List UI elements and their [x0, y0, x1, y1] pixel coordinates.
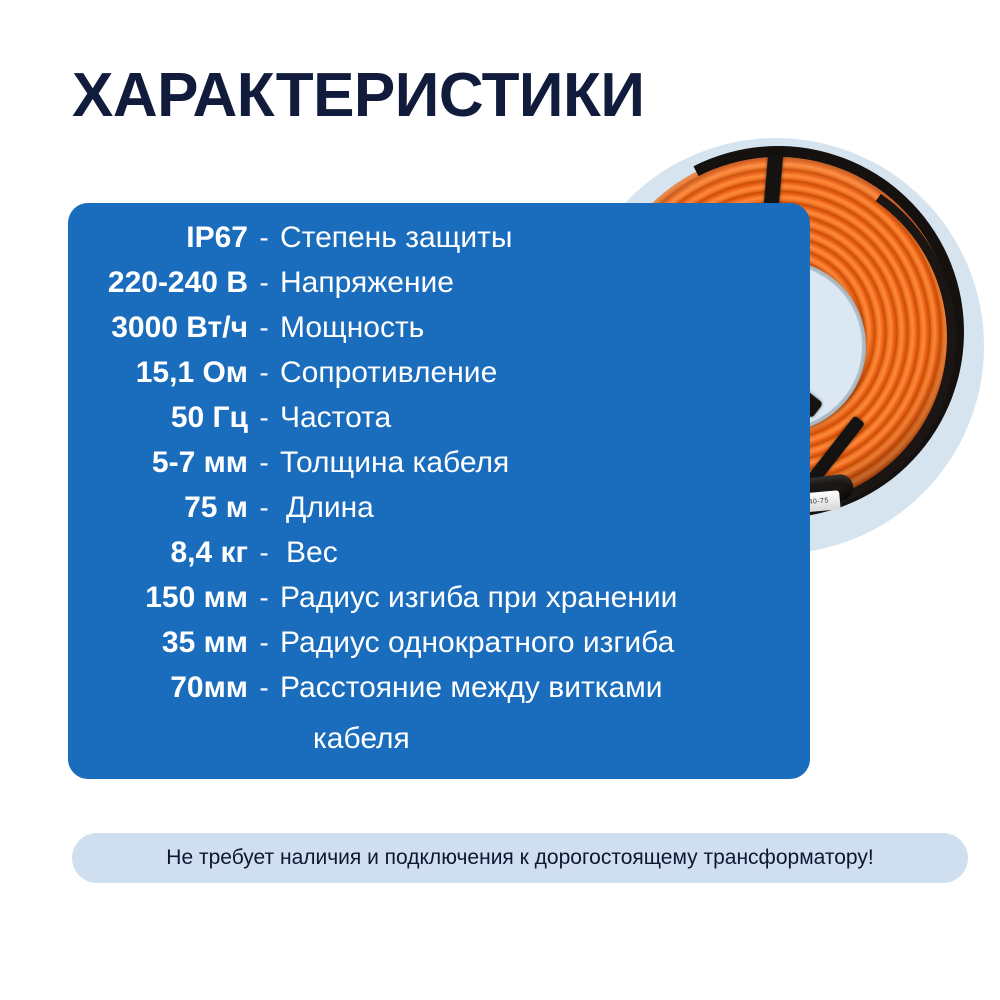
spec-label: Радиус изгиба при хранении	[280, 581, 677, 615]
spec-label: Радиус однократного изгиба	[280, 626, 674, 660]
spec-label: Вес	[280, 536, 338, 570]
spec-separator: -	[248, 312, 280, 344]
spec-separator: -	[248, 357, 280, 389]
spec-separator: -	[248, 222, 280, 254]
footer-note-text: Не требует наличия и подключения к дорог…	[166, 846, 873, 870]
spec-row: 8,4 кг-Вес	[68, 536, 810, 581]
spec-label: Расстояние между витками	[280, 671, 663, 705]
spec-value: 70мм	[68, 671, 248, 705]
spec-row: 75 м-Длина	[68, 491, 810, 536]
spec-separator: -	[248, 582, 280, 614]
spec-label-continuation: кабеля	[68, 716, 810, 761]
spec-value: 150 мм	[68, 581, 248, 615]
spec-row: 15,1 Ом-Сопротивление	[68, 356, 810, 401]
spec-row: 150 мм-Радиус изгиба при хранении	[68, 581, 810, 626]
spec-row: 220-240 В-Напряжение	[68, 266, 810, 311]
spec-row: 70мм-Расстояние между витками	[68, 671, 810, 716]
spec-separator: -	[248, 447, 280, 479]
spec-row: 3000 Вт/ч-Мощность	[68, 311, 810, 356]
spec-value: 75 м	[68, 491, 248, 525]
spec-row: 5-7 мм-Толщина кабеля	[68, 446, 810, 491]
spec-row: 50 Гц-Частота	[68, 401, 810, 446]
spec-value: 3000 Вт/ч	[68, 311, 248, 345]
spec-value: 15,1 Ом	[68, 356, 248, 390]
spec-separator: -	[248, 627, 280, 659]
specifications-list: IP67-Степень защиты220-240 В-Напряжение3…	[68, 221, 810, 761]
spec-label: Частота	[280, 401, 391, 435]
spec-value: 35 мм	[68, 626, 248, 660]
spec-separator: -	[248, 537, 280, 569]
spec-separator: -	[248, 267, 280, 299]
spec-label: Напряжение	[280, 266, 454, 300]
spec-separator: -	[248, 492, 280, 524]
spec-label: Мощность	[280, 311, 424, 345]
spec-sheet-page: ХАРАКТЕРИСТИКИ СТН КС ПБ 40-75 IP67-Степ…	[0, 0, 1000, 1000]
footer-note-pill: Не требует наличия и подключения к дорог…	[72, 833, 968, 883]
spec-label: Сопротивление	[280, 356, 497, 390]
spec-row: 35 мм-Радиус однократного изгиба	[68, 626, 810, 671]
spec-separator: -	[248, 402, 280, 434]
spec-value: 8,4 кг	[68, 536, 248, 570]
spec-label: Толщина кабеля	[280, 446, 509, 480]
specifications-panel: IP67-Степень защиты220-240 В-Напряжение3…	[68, 203, 810, 779]
spec-value: 50 Гц	[68, 401, 248, 435]
spec-separator: -	[248, 672, 280, 704]
spec-row: IP67-Степень защиты	[68, 221, 810, 266]
spec-label: Степень защиты	[280, 221, 512, 255]
spec-value: IP67	[68, 221, 248, 255]
page-title: ХАРАКТЕРИСТИКИ	[72, 62, 644, 130]
spec-value: 220-240 В	[68, 266, 248, 300]
spec-value: 5-7 мм	[68, 446, 248, 480]
spec-label: Длина	[280, 491, 374, 525]
